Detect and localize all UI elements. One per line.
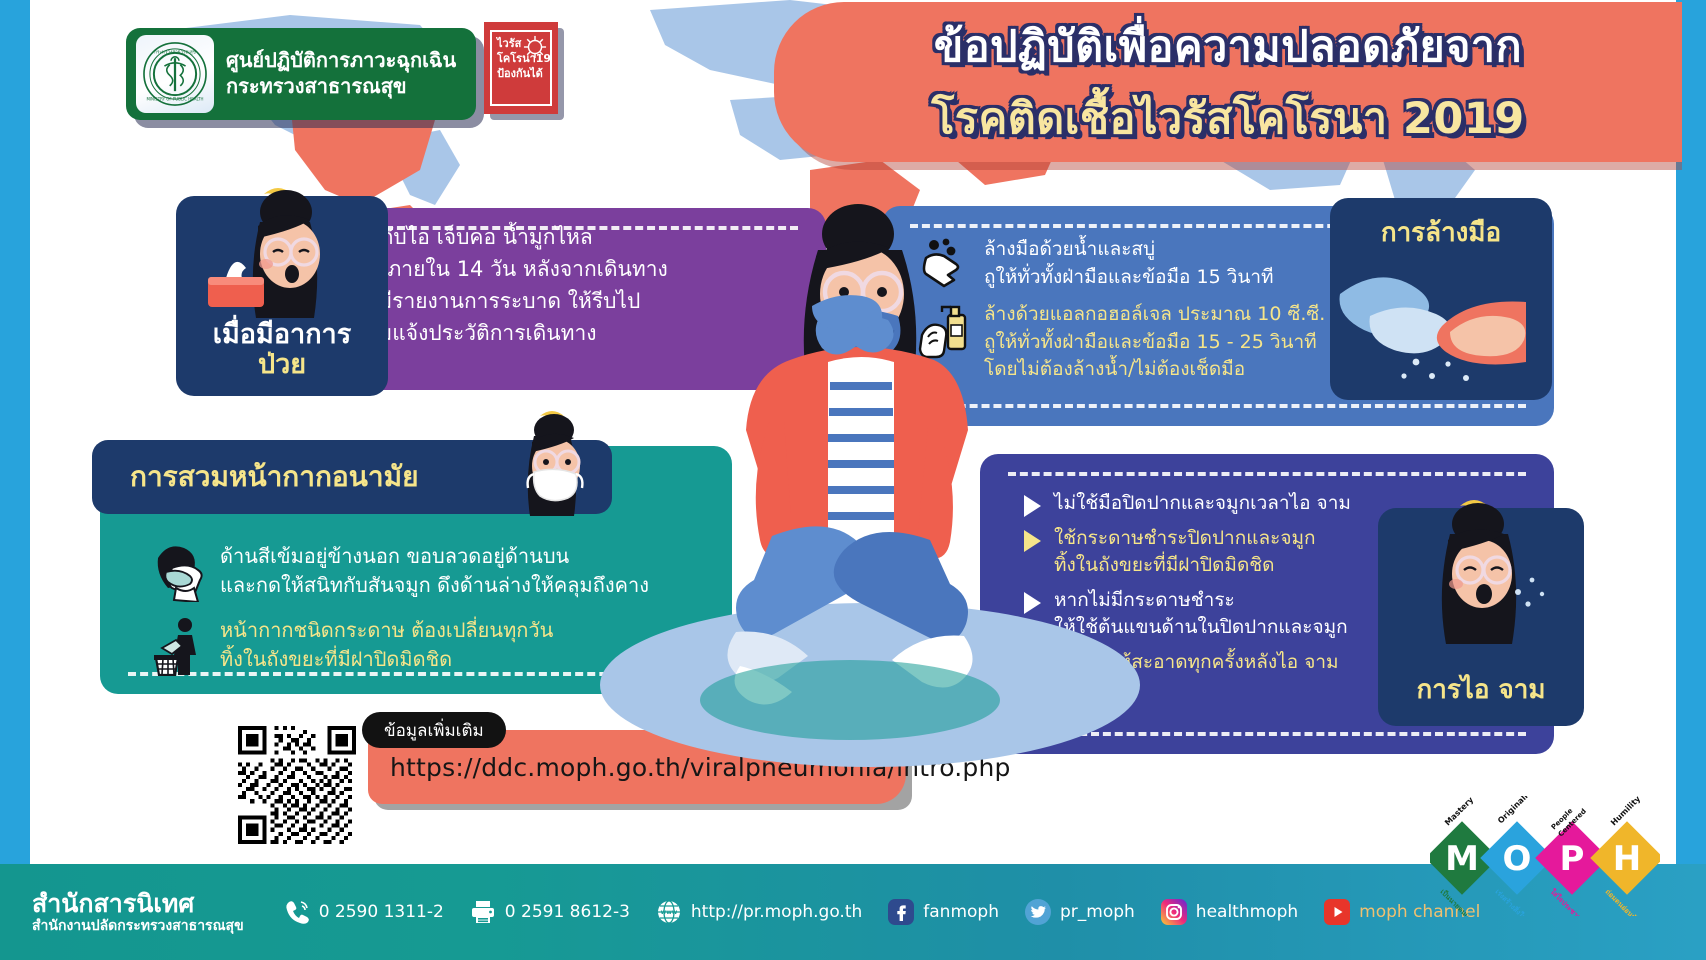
youtube-icon	[1324, 899, 1350, 925]
website-icon: www	[656, 899, 682, 925]
mask-title: การสวมหน้ากากอนามัย	[130, 455, 418, 499]
footer-twitter-label: pr_moph	[1060, 902, 1135, 922]
mask-item-1-line-1: ด้านสีเข้มอยู่ข้างนอก ขอบลวดอยู่ด้านบน	[220, 542, 649, 571]
mask-item-text: หน้ากากชนิดกระดาษ ต้องเปลี่ยนทุกวัน ทิ้ง…	[220, 616, 553, 674]
coronavirus-preventable-badge: ไวรัส โคโรนา19 ป้องกันได้	[484, 22, 558, 114]
footer-fax-label: 0 2591 8612-3	[505, 902, 630, 922]
footer-brand-line-1: สำนักสารนิเทศ	[32, 889, 244, 919]
moph-value-mastery: Mastery	[1443, 796, 1476, 827]
washing-hands-illustration	[1330, 258, 1554, 402]
twitter-icon	[1025, 899, 1051, 925]
moph-values-logo: M O P H Mastery Originality People Cente…	[1430, 796, 1660, 916]
mask-item-text: ด้านสีเข้มอยู่ข้างนอก ขอบลวดอยู่ด้านบน แ…	[220, 542, 649, 600]
footer-contact-instagram[interactable]: healthmoph	[1161, 899, 1298, 925]
poster-title: ข้อปฏิบัติเพื่อความปลอดภัยจาก โรคติดเชื้…	[774, 2, 1682, 162]
phone-icon	[284, 899, 310, 925]
virus-badge-line-3: ป้องกันได้	[497, 67, 546, 82]
moph-letter-o: O	[1503, 839, 1532, 879]
footer-instagram-label: healthmoph	[1196, 902, 1298, 922]
seated-girl-illustration	[640, 200, 1060, 780]
logo-text-block: ศูนย์ปฏิบัติการภาวะฉุกเฉิน กระทรวงสาธารณ…	[226, 48, 456, 99]
more-info-tag: ข้อมูลเพิ่มเติม	[362, 712, 506, 748]
svg-text:MINISTRY OF PUBLIC HEALTH: MINISTRY OF PUBLIC HEALTH	[146, 96, 203, 101]
footer-facebook-label: fanmoph	[923, 902, 999, 922]
masked-girl-illustration	[492, 410, 624, 538]
infographic-page: กระทรวงสาธารณสุข MINISTRY OF PUBLIC HEAL…	[0, 0, 1706, 960]
moph-emergency-operations-logo: กระทรวงสาธารณสุข MINISTRY OF PUBLIC HEAL…	[126, 28, 476, 120]
instagram-icon	[1161, 899, 1187, 925]
svg-text:กระทรวงสาธารณสุข: กระทรวงสาธารณสุข	[154, 50, 196, 56]
footer-contact-phone[interactable]: 0 2590 1311-2	[284, 899, 444, 925]
mask-item-1-line-2: และกดให้สนิทกับสันจมูก ดึงด้านล่างให้คลุ…	[220, 571, 649, 600]
footer-contact-fax[interactable]: 0 2591 8612-3	[470, 899, 630, 925]
title-line-2: โรคติดเชื้อไวรัสโคโรนา 2019	[931, 84, 1524, 152]
virus-icon	[522, 34, 548, 60]
footer-brand: สำนักสารนิเทศ สำนักงานปลัดกระทรวงสาธารณส…	[32, 889, 244, 935]
mask-item-2-line-2: ทิ้งในถังขยะที่มีฝาปิดมิดชิด	[220, 645, 553, 674]
logo-line-1: ศูนย์ปฏิบัติการภาวะฉุกเฉิน	[226, 48, 456, 74]
footer-contacts: 0 2590 1311-2 0 2591 8612-3	[284, 899, 1481, 925]
handwash-tab-title: การล้างมือ	[1330, 212, 1552, 253]
footer-contact-twitter[interactable]: pr_moph	[1025, 899, 1135, 925]
wear-mask-icon	[152, 542, 206, 602]
sick-girl-illustration	[190, 182, 390, 362]
footer-contact-facebook[interactable]: fanmoph	[888, 899, 999, 925]
fax-icon	[470, 899, 496, 925]
logo-line-2: กระทรวงสาธารณสุข	[226, 74, 456, 100]
moph-letter-h: H	[1613, 839, 1641, 879]
moph-value-originality: Originality	[1496, 796, 1537, 825]
ministry-seal-plate: กระทรวงสาธารณสุข MINISTRY OF PUBLIC HEAL…	[136, 35, 214, 113]
qr-code	[238, 726, 356, 844]
moph-letter-m: M	[1445, 839, 1479, 879]
footer-phone-label: 0 2590 1311-2	[319, 902, 444, 922]
discard-mask-icon	[152, 616, 206, 676]
footer-website-label: http://pr.moph.go.th	[691, 902, 862, 922]
moph-value-th-mastery: เป็นนายตนเอง	[1439, 887, 1477, 916]
footer-contact-website[interactable]: www http://pr.moph.go.th	[656, 899, 862, 925]
svg-text:www: www	[661, 909, 678, 916]
moph-value-th-people: ใส่ใจประชาชน	[1549, 887, 1588, 916]
ministry-of-public-health-seal-icon: กระทรวงสาธารณสุข MINISTRY OF PUBLIC HEAL…	[142, 41, 208, 107]
left-edge-bar	[0, 0, 30, 960]
mask-item-2-line-1: หน้ากากชนิดกระดาษ ต้องเปลี่ยนทุกวัน	[220, 616, 553, 645]
moph-letter-p: P	[1560, 839, 1585, 879]
title-line-1: ข้อปฏิบัติเพื่อความปลอดภัยจาก	[934, 12, 1522, 80]
facebook-icon	[888, 899, 914, 925]
coughing-girl-illustration	[1382, 500, 1582, 690]
footer-brand-line-2: สำนักงานปลัดกระทรวงสาธารณสุข	[32, 918, 244, 935]
